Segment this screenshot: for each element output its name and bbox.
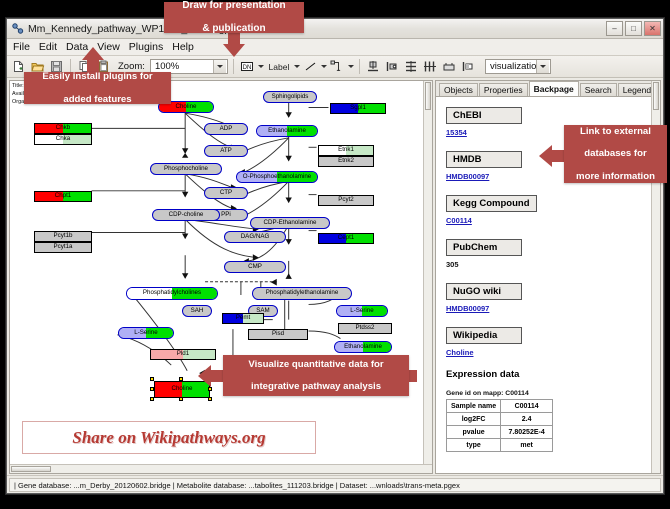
expr-key-3: type	[447, 439, 501, 452]
stack-vertical-icon[interactable]	[403, 58, 420, 75]
share-callout: Share on Wikipathways.org	[22, 421, 316, 454]
toolbar-separator-2	[233, 59, 234, 74]
table-row: pvalue 7.80252E-4	[447, 426, 553, 439]
node-adp[interactable]: ADP	[204, 123, 248, 135]
selection-handle-n[interactable]	[179, 377, 183, 381]
visualize-callout-line2: integrative pathway analysis	[242, 381, 389, 392]
node-atp[interactable]: ATP	[204, 145, 248, 157]
draw-callout-line2: & publication	[176, 23, 291, 35]
node-phosphatidylethanolamine[interactable]: Phosphatidylethanolamine	[252, 287, 352, 300]
node-ctp[interactable]: CTP	[204, 187, 248, 199]
chevron-down-icon-2[interactable]	[536, 60, 549, 73]
visualize-callout-line1: Visualize quantitative data for	[242, 359, 389, 370]
canvas-label-title: Title:	[12, 83, 24, 89]
line-dropdown-icon[interactable]	[321, 65, 327, 68]
links-callout-line2: databases for	[570, 148, 661, 159]
plugins-callout-line1: Easily install plugins for	[36, 71, 158, 82]
selection-handle-s[interactable]	[179, 397, 183, 401]
minimize-button[interactable]: –	[606, 21, 623, 36]
node-etnk2[interactable]: Etnk2	[318, 156, 374, 167]
section-heading-hmdb: HMDB	[446, 151, 522, 168]
node-pcyt2[interactable]: Pcyt2	[318, 195, 374, 206]
section-heading-chebi: ChEBI	[446, 107, 522, 124]
label-tool-button[interactable]: Label	[266, 58, 292, 75]
expr-val-1: 2.4	[501, 413, 553, 426]
node-cdp-choline[interactable]: CDP-choline	[152, 209, 220, 221]
links-callout-arrow-icon	[539, 145, 552, 167]
toolbar-separator-3	[359, 59, 360, 74]
expr-val-3: met	[501, 439, 553, 452]
node-pcyt1a[interactable]: Pcyt1a	[34, 242, 92, 253]
section-heading-wikipedia: Wikipedia	[446, 327, 522, 344]
gene-id-line: Gene id on mapp: C00114	[446, 390, 660, 397]
node-cept1[interactable]: Cept1	[318, 233, 374, 244]
node-phosphatidylcholines[interactable]: Phosphatidylcholines	[126, 287, 218, 300]
node-sgpl1[interactable]: Sgpl1	[330, 103, 386, 114]
tab-objects[interactable]: Objects	[439, 83, 478, 96]
section-heading-kegg: Kegg Compound	[446, 195, 537, 212]
label-dropdown-icon[interactable]	[294, 65, 300, 68]
links-callout: Link to external databases for more info…	[564, 125, 667, 183]
menu-edit[interactable]: Edit	[39, 40, 63, 54]
link-wikipedia[interactable]: Choline	[446, 348, 660, 357]
links-callout-line3: more information	[570, 171, 661, 182]
node-ethanolamine-right[interactable]: Ethanolamine	[334, 341, 392, 353]
table-row: type met	[447, 439, 553, 452]
node-chpt1[interactable]: Chpt1	[34, 191, 92, 202]
menu-help[interactable]: Help	[172, 40, 200, 54]
menu-plugins[interactable]: Plugins	[129, 40, 169, 54]
visualize-callout-arrow-icon	[198, 365, 211, 387]
canvas-hscroll-thumb[interactable]	[11, 466, 51, 472]
align-left-icon[interactable]	[384, 58, 401, 75]
plugins-callout-line2: added features	[36, 94, 158, 105]
links-callout-line1: Link to external	[570, 126, 661, 137]
pathway-canvas[interactable]: Title: Availab Organi	[10, 81, 432, 473]
selection-handle-e[interactable]	[208, 387, 212, 391]
node-etnk1[interactable]: Etnk1	[318, 145, 374, 156]
close-button[interactable]: ✕	[644, 21, 661, 36]
line-tool-icon[interactable]	[302, 58, 319, 75]
tab-search[interactable]: Search	[580, 83, 617, 96]
group-icon[interactable]	[441, 58, 458, 75]
datanode-tool-icon[interactable]: DN	[239, 58, 256, 75]
link-nugo[interactable]: HMDB00097	[446, 304, 660, 313]
expression-table: Sample name C00114 log2FC 2.4 pvalue 7.8…	[446, 399, 553, 452]
table-row: Sample name C00114	[447, 400, 553, 413]
svg-text:DN: DN	[243, 65, 252, 71]
datanode-dropdown-icon[interactable]	[258, 65, 264, 68]
node-l-serine-right[interactable]: L-Serine	[336, 305, 388, 317]
pathvisio-app-icon	[11, 22, 24, 35]
bring-to-front-icon[interactable]	[460, 58, 477, 75]
node-cmp[interactable]: CMP	[224, 261, 286, 273]
chevron-down-icon[interactable]	[213, 60, 226, 73]
align-top-icon[interactable]	[365, 58, 382, 75]
node-pld1[interactable]: Pld1	[150, 349, 216, 360]
status-text: | Gene database: ...m_Derby_20120602.bri…	[9, 478, 661, 492]
tab-properties[interactable]: Properties	[479, 83, 528, 96]
visualize-callout: Visualize quantitative data for integrat…	[223, 355, 409, 396]
canvas-vertical-scrollbar[interactable]	[423, 81, 432, 473]
distribute-horizontal-icon[interactable]	[422, 58, 439, 75]
draw-callout-line1: Draw for presentation	[176, 0, 291, 12]
value-pubchem: 305	[446, 260, 660, 269]
window-controls: – □ ✕	[606, 21, 661, 36]
node-l-serine-left[interactable]: L-Serine	[118, 327, 174, 339]
draw-callout: Draw for presentation & publication	[164, 2, 304, 33]
pathway-canvas-panel[interactable]: Title: Availab Organi	[9, 80, 433, 474]
canvas-vscroll-thumb[interactable]	[425, 82, 431, 110]
side-panel-tabs: Objects Properties Backpage Search Legen…	[436, 81, 660, 97]
node-chkb[interactable]: Chkb	[34, 123, 92, 134]
node-dag-nag[interactable]: DAG/NAG	[224, 231, 286, 243]
expr-key-0: Sample name	[447, 400, 501, 413]
maximize-button[interactable]: □	[625, 21, 642, 36]
expr-key-1: log2FC	[447, 413, 501, 426]
node-pcyt1b[interactable]: Pcyt1b	[34, 231, 92, 242]
share-callout-text: Share on Wikipathways.org	[72, 428, 265, 448]
draw-callout-arrow-icon	[223, 44, 245, 57]
link-kegg[interactable]: C00114	[446, 216, 660, 225]
expr-key-2: pvalue	[447, 426, 501, 439]
node-sah[interactable]: SAH	[182, 305, 212, 317]
tab-backpage[interactable]: Backpage	[529, 81, 579, 96]
selection-handle-se[interactable]	[208, 397, 212, 401]
node-pisd[interactable]: Pisd	[248, 329, 308, 340]
selection-handle-sw[interactable]	[150, 397, 154, 401]
node-chka[interactable]: Chka	[34, 134, 92, 145]
node-sphingolipids[interactable]: Sphingolipids	[263, 91, 317, 103]
connector-dropdown-icon[interactable]	[348, 65, 354, 68]
expression-data-title: Expression data	[446, 369, 660, 380]
node-o-phosphoethanolamine[interactable]: O-Phosphoethanolamine	[236, 171, 318, 183]
expr-val-2: 7.80252E-4	[501, 426, 553, 439]
menu-file[interactable]: File	[13, 40, 36, 54]
plugins-callout: Easily install plugins for added feature…	[24, 72, 171, 104]
menu-bar: File Edit Data View Plugins Help	[7, 39, 663, 56]
visualization-value: visualization	[490, 61, 542, 72]
expr-val-0: C00114	[501, 400, 553, 413]
title-bar: Mm_Kennedy_pathway_WP1771_45176.gpml – □…	[7, 19, 663, 39]
backpage-vscroll-thumb[interactable]	[653, 82, 659, 110]
section-heading-nugo: NuGO wiki	[446, 283, 522, 300]
selection-handle-w[interactable]	[150, 387, 154, 391]
node-cdp-ethanolamine[interactable]: CDP-Ethanolamine	[250, 217, 330, 229]
node-phosphocholine[interactable]: Phosphocholine	[150, 163, 222, 175]
selection-handle-nw[interactable]	[150, 377, 154, 381]
node-ethanolamine[interactable]: Ethanolamine	[256, 125, 318, 137]
node-ptdss2[interactable]: Ptdss2	[338, 323, 392, 334]
node-pemt[interactable]: Pemt	[222, 313, 264, 324]
canvas-horizontal-scrollbar[interactable]	[10, 464, 432, 473]
section-heading-pubchem: PubChem	[446, 239, 522, 256]
connector-tool-icon[interactable]	[329, 58, 346, 75]
visualize-callout-right-stem	[409, 370, 417, 382]
table-row: log2FC 2.4	[447, 413, 553, 426]
label-tool-label: Label	[269, 62, 290, 72]
visualization-combo[interactable]: visualization	[485, 59, 551, 74]
status-bar: | Gene database: ...m_Derby_20120602.bri…	[7, 475, 663, 493]
